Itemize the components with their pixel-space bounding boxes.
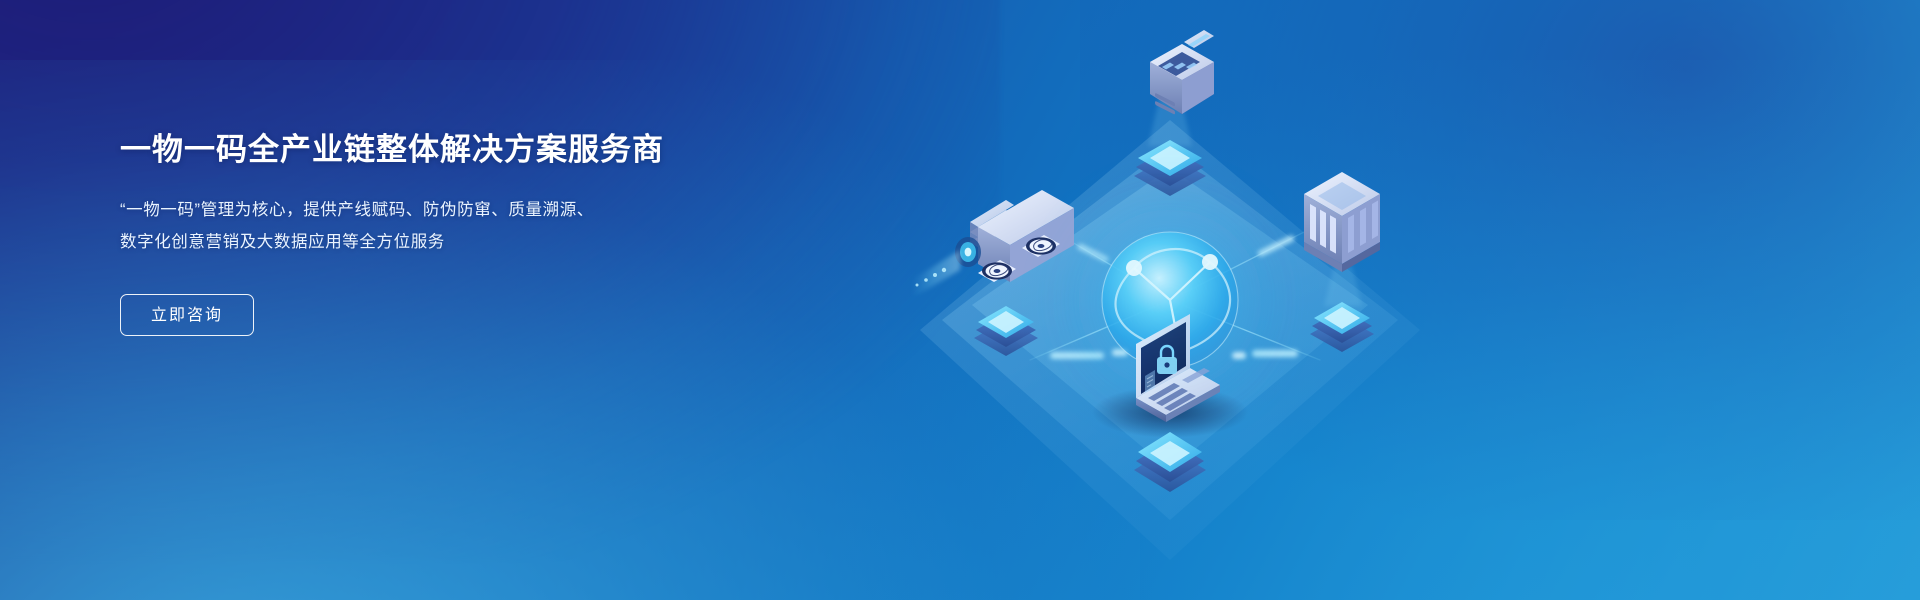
center-glow-overlay xyxy=(1020,150,1320,450)
hero-copy-block: 一物一码全产业链整体解决方案服务商 “一物一码”管理为核心，提供产线赋码、防伪防… xyxy=(120,132,820,336)
hero-subtitle-line-2: 数字化创意营销及大数据应用等全方位服务 xyxy=(120,226,820,258)
hero-subtitle: “一物一码”管理为核心，提供产线赋码、防伪防窜、质量溯源、 数字化创意营销及大数… xyxy=(120,194,820,258)
consult-now-button[interactable]: 立即咨询 xyxy=(120,294,254,336)
hero-banner: 一物一码全产业链整体解决方案服务商 “一物一码”管理为核心，提供产线赋码、防伪防… xyxy=(0,0,1920,600)
page-title: 一物一码全产业链整体解决方案服务商 xyxy=(120,132,820,168)
hero-subtitle-line-1: “一物一码”管理为核心，提供产线赋码、防伪防窜、质量溯源、 xyxy=(120,194,820,226)
isometric-network-illustration xyxy=(880,0,1580,600)
